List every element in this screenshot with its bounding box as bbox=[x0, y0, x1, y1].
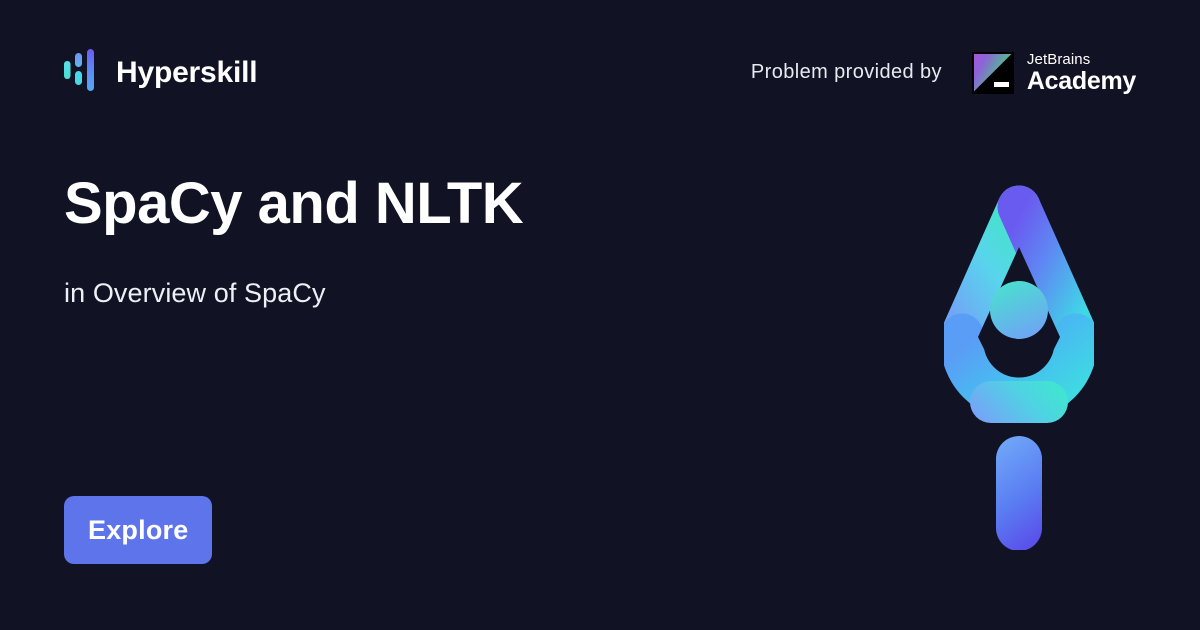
hyperskill-wordmark: Hyperskill bbox=[116, 58, 257, 88]
jetbrains-academy-wordmark: JetBrains Academy bbox=[1027, 52, 1136, 94]
hyperskill-bars-icon bbox=[64, 49, 100, 96]
card-header: Hyperskill Problem provided by JetBrains… bbox=[0, 0, 1200, 145]
provider-block: Problem provided by JetBrains Academy bbox=[751, 52, 1136, 94]
spacy-topic-mark-icon bbox=[944, 185, 1094, 550]
page-subtitle: in Overview of SpaCy bbox=[64, 276, 326, 311]
page-title: SpaCy and NLTK bbox=[64, 172, 523, 237]
share-card: Hyperskill Problem provided by JetBrains… bbox=[0, 0, 1200, 630]
jetbrains-wordmark-line2: Academy bbox=[1027, 69, 1136, 94]
jetbrains-wordmark-line1: JetBrains bbox=[1027, 52, 1136, 67]
explore-button[interactable]: Explore bbox=[64, 496, 212, 564]
provider-label: Problem provided by bbox=[751, 61, 942, 84]
hyperskill-brand[interactable]: Hyperskill bbox=[64, 49, 257, 96]
jetbrains-academy-logo[interactable]: JetBrains Academy bbox=[972, 52, 1136, 94]
jetbrains-square-icon bbox=[972, 52, 1014, 94]
